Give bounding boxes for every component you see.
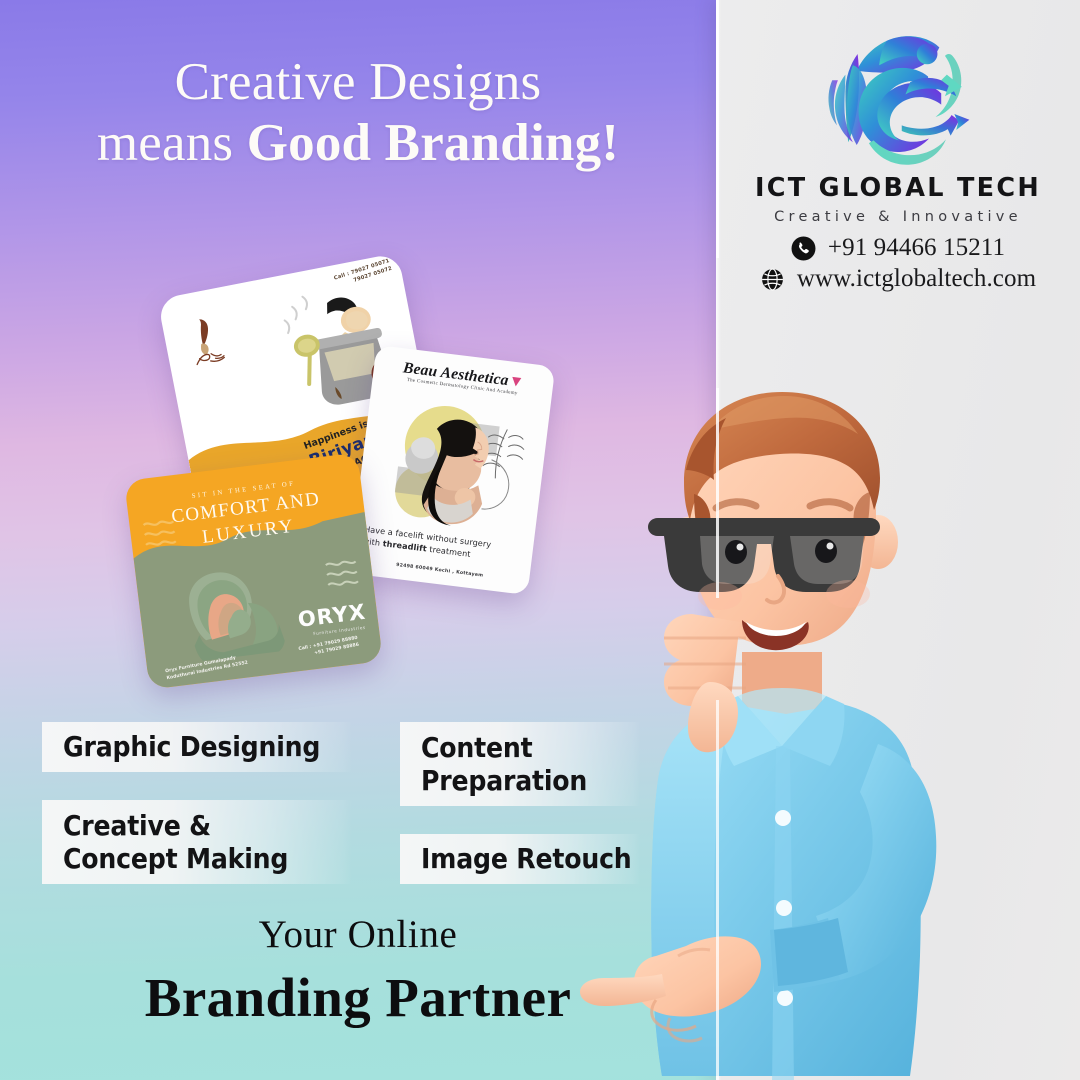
panel-edge-highlight-mid	[716, 388, 719, 598]
brand-tagline: Creative & Innovative	[716, 209, 1080, 225]
service-tag-image-retouch[interactable]: Image Retouch	[400, 834, 640, 884]
globe-icon	[760, 267, 785, 292]
service-tag-content-line2: Preparation	[421, 764, 587, 797]
bottom-tagline: Your Online Branding Partner	[0, 912, 716, 1029]
contact-phone-row[interactable]: +91 94466 15211	[716, 234, 1080, 262]
brand-logo-block: ICT GLOBAL TECH Creative & Innovative	[716, 22, 1080, 225]
service-tag-creative-concept-making[interactable]: Creative & Concept Making	[42, 800, 352, 884]
poster-canvas: Creative Designs means Good Branding!	[0, 0, 1080, 1080]
globe-swirl-logo-icon	[803, 22, 993, 177]
service-tag-graphic-designing-label: Graphic Designing	[63, 730, 320, 763]
website-url: www.ictglobaltech.com	[797, 265, 1036, 293]
panel-edge-highlight-top	[716, 0, 719, 258]
brand-name: ICT GLOBAL TECH	[716, 173, 1080, 203]
contact-website-row[interactable]: www.ictglobaltech.com	[716, 265, 1080, 293]
service-tag-content-preparation[interactable]: Content Preparation	[400, 722, 640, 806]
service-tag-creative-line2: Concept Making	[63, 842, 288, 875]
panel-edge-highlight-bottom	[716, 700, 719, 1080]
service-tag-image-retouch-label: Image Retouch	[421, 842, 632, 875]
phone-icon	[791, 236, 816, 261]
service-tag-creative-line1: Creative &	[63, 809, 288, 842]
service-tag-content-line1: Content	[421, 731, 587, 764]
tagline-line-2: Branding Partner	[0, 966, 716, 1029]
phone-number: +91 94466 15211	[828, 234, 1005, 262]
service-tag-graphic-designing[interactable]: Graphic Designing	[42, 722, 352, 772]
tagline-line-1: Your Online	[0, 912, 716, 957]
